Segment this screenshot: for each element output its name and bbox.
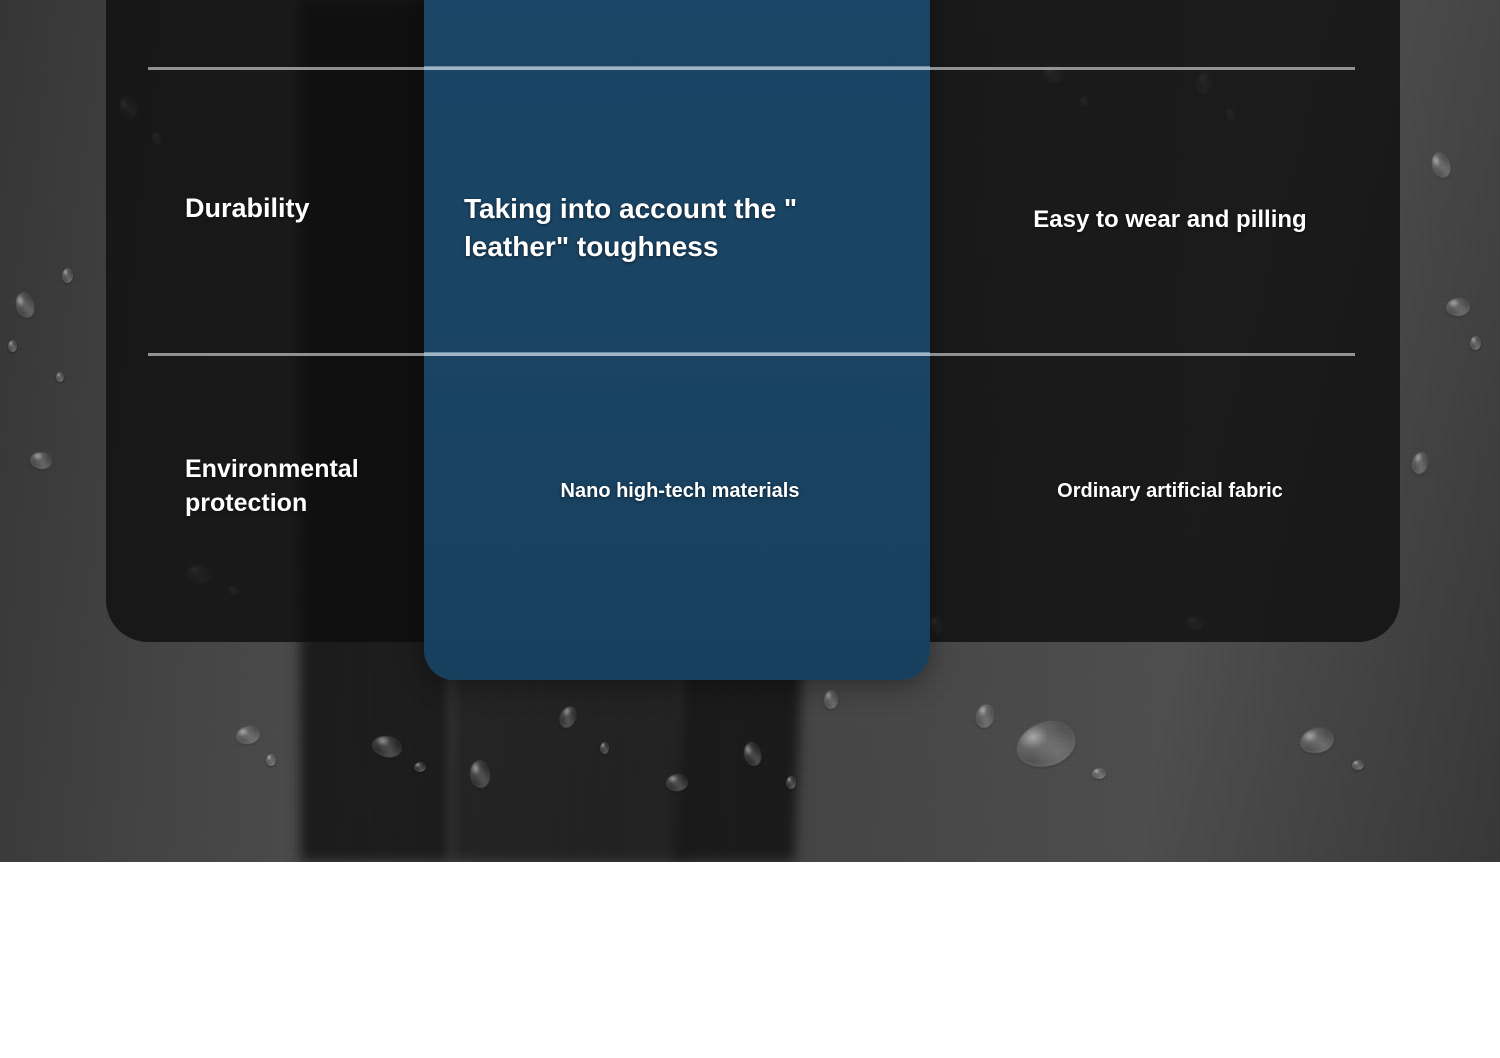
water-droplet <box>266 754 276 766</box>
row-2-highlight-value: Nano high-tech materials <box>470 479 890 503</box>
water-droplet <box>414 762 426 772</box>
divider-middle-highlight-segment <box>424 352 930 356</box>
water-droplet <box>1012 715 1081 772</box>
water-droplet <box>62 268 73 283</box>
water-droplet <box>1470 336 1481 350</box>
water-droplet <box>8 340 17 352</box>
water-droplet <box>1410 451 1430 476</box>
water-droplet <box>1092 768 1106 779</box>
water-droplet <box>666 774 688 791</box>
highlight-column-card <box>424 0 930 680</box>
row-2-attribute-label: Environmental protection <box>185 453 435 520</box>
row-1-ordinary-value: Easy to wear and pilling <box>960 205 1380 234</box>
water-droplet <box>786 776 796 789</box>
row-2-ordinary-value: Ordinary artificial fabric <box>960 479 1380 503</box>
water-droplet <box>600 742 609 754</box>
page-bottom-whitespace <box>0 862 1500 1058</box>
water-droplet <box>1446 298 1470 316</box>
water-droplet <box>974 703 996 730</box>
comparison-infographic: Durability Taking into account the " lea… <box>0 0 1500 1058</box>
divider-top-highlight-segment <box>424 66 930 70</box>
water-droplet <box>824 690 838 709</box>
row-1-attribute-label: Durability <box>185 192 415 225</box>
water-droplet <box>1428 150 1454 181</box>
water-droplet <box>28 450 53 471</box>
water-droplet <box>12 290 37 320</box>
water-droplet <box>1298 725 1336 756</box>
water-droplet <box>235 724 262 746</box>
row-1-highlight-value: Taking into account the " leather" tough… <box>464 190 894 266</box>
water-droplet <box>1352 760 1364 770</box>
water-droplet <box>56 372 64 382</box>
